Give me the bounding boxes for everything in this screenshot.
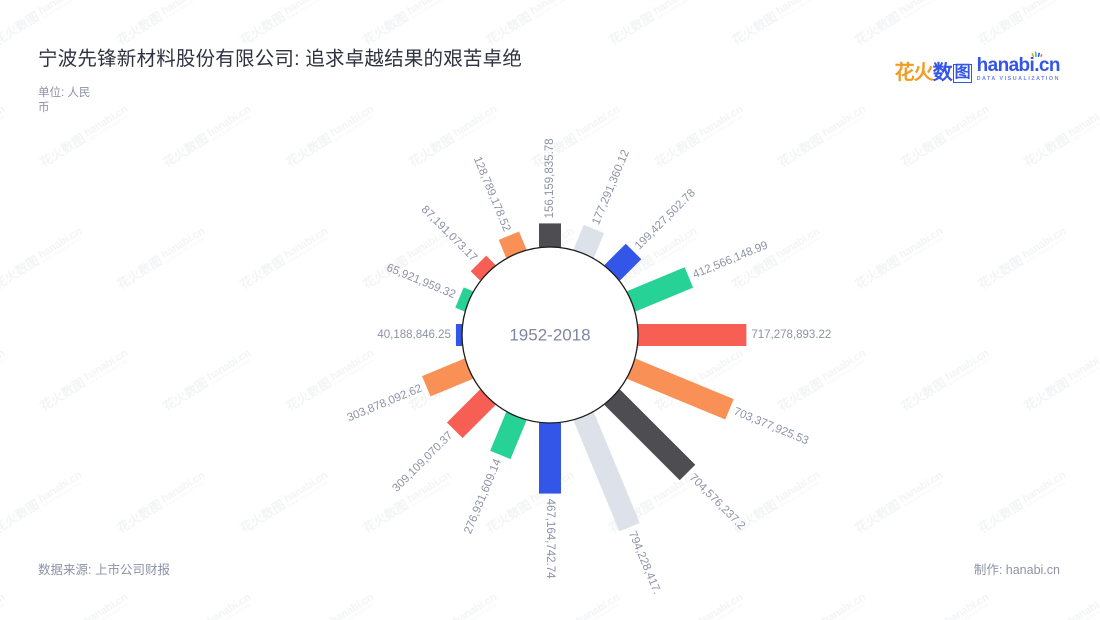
- bar-label-group: 717,278,893.22: [751, 329, 831, 341]
- bar-value-label: 65,921,959.32: [385, 262, 458, 301]
- bar-value-label: 717,278,893.22: [751, 329, 831, 341]
- logo-char-hua: 花: [895, 63, 914, 83]
- bar-label-group: 177,291,360.12: [590, 148, 632, 226]
- bar-value-label: 303,878,092.62: [345, 383, 423, 425]
- radial-bar-segment[interactable]: [627, 267, 693, 311]
- unit-label-line2: 币: [38, 102, 50, 114]
- radial-bar-segment[interactable]: [422, 359, 473, 397]
- bar-value-label: 87,191,073.17: [419, 204, 479, 264]
- bar-value-label: 156,159,835.78: [544, 138, 556, 218]
- logo-latin-wordmark: hanabi.cn DATA VISUALIZATION: [977, 56, 1060, 83]
- bar-value-label: 199,427,502.78: [633, 187, 698, 252]
- credit-label: 制作: hanabi.cn: [974, 559, 1060, 578]
- bar-label-group: 40,188,846.25: [377, 329, 451, 341]
- bar-label-group: 303,878,092.62: [345, 383, 423, 425]
- center-range-label: 1952-2018: [509, 326, 590, 345]
- radial-bar[interactable]: [627, 267, 693, 311]
- radial-bar-segment[interactable]: [490, 412, 526, 459]
- bar-label-group: 199,427,502.78: [633, 187, 698, 252]
- bar-value-label: 412,566,148.99: [691, 239, 769, 281]
- hanabi-logo: 花火数图 hanabi.cn DATA VISUALIZATION: [895, 56, 1060, 83]
- bar-label-group: 156,159,835.78: [544, 138, 556, 218]
- chart-canvas: 花火数图hanabi.cnDATA VISUALIZATION花火数图hanab…: [0, 0, 1100, 620]
- radial-bar-chart: 1952-2018 156,159,835.78177,291,360.1219…: [0, 0, 1100, 620]
- radial-bar[interactable]: [604, 389, 695, 480]
- bar-value-label: 177,291,360.12: [590, 148, 632, 226]
- bar-value-label: 40,188,846.25: [377, 329, 451, 341]
- bar-label-group: 704,576,237.2: [687, 472, 747, 532]
- logo-tagline: DATA VISUALIZATION: [977, 77, 1060, 82]
- bar-value-label: 309,109,070.37: [390, 430, 455, 495]
- bar-label-group: 467,164,742.74: [544, 499, 556, 580]
- radial-bar-segment[interactable]: [638, 324, 746, 346]
- chart-svg: 1952-2018 156,159,835.78177,291,360.1219…: [0, 0, 1100, 620]
- data-source-label: 数据来源: 上市公司财报: [38, 559, 170, 578]
- bar-value-label: 467,164,742.74: [544, 499, 556, 580]
- bar-value-label: 703,377,925.53: [732, 406, 810, 448]
- bar-label-group: 794,228,417.: [626, 529, 663, 596]
- radial-bar-segment[interactable]: [627, 359, 734, 420]
- radial-bar-segment[interactable]: [456, 324, 462, 346]
- bar-label-group: 412,566,148.99: [691, 239, 769, 281]
- logo-char-tu: 图: [953, 64, 972, 83]
- bar-label-group: 87,191,073.17: [419, 204, 479, 264]
- unit-label-line1: 单位: 人民: [38, 87, 90, 99]
- logo-char-huo: 火: [914, 63, 933, 83]
- bar-value-label: 128,789,178.52: [471, 155, 513, 233]
- radial-bar[interactable]: [490, 412, 526, 459]
- bar-value-label: 704,576,237.2: [687, 472, 747, 532]
- radial-bar[interactable]: [456, 324, 462, 346]
- logo-domain-text: hanabi.cn: [977, 56, 1060, 75]
- bar-label-group: 703,377,925.53: [732, 406, 810, 448]
- logo-domain-label: hanabi.cn: [977, 55, 1060, 76]
- bar-label-group: 276,931,609.14: [462, 457, 504, 536]
- radial-bar[interactable]: [539, 223, 561, 247]
- bar-label-group: 128,789,178.52: [471, 155, 513, 233]
- page-title: 宁波先锋新材料股份有限公司: 追求卓越结果的艰苦卓绝: [38, 42, 522, 71]
- bar-label-group: 65,921,959.32: [385, 262, 458, 301]
- radial-bar[interactable]: [638, 324, 746, 346]
- sparkle-icon: [1031, 50, 1043, 58]
- radial-bar-segment[interactable]: [539, 223, 561, 247]
- unit-label: 单位: 人民 币: [38, 86, 98, 116]
- radial-bar[interactable]: [539, 423, 561, 494]
- bar-value-label: 794,228,417.: [626, 529, 663, 596]
- logo-char-shu: 数: [933, 63, 952, 83]
- logo-chinese-wordmark: 花火数图: [895, 63, 972, 83]
- radial-bar[interactable]: [627, 359, 734, 420]
- radial-bar[interactable]: [422, 359, 473, 397]
- bar-value-label: 276,931,609.14: [462, 457, 504, 536]
- radial-bar-segment[interactable]: [539, 423, 561, 494]
- bar-label-group: 309,109,070.37: [390, 430, 455, 495]
- radial-bar-segment[interactable]: [604, 389, 695, 480]
